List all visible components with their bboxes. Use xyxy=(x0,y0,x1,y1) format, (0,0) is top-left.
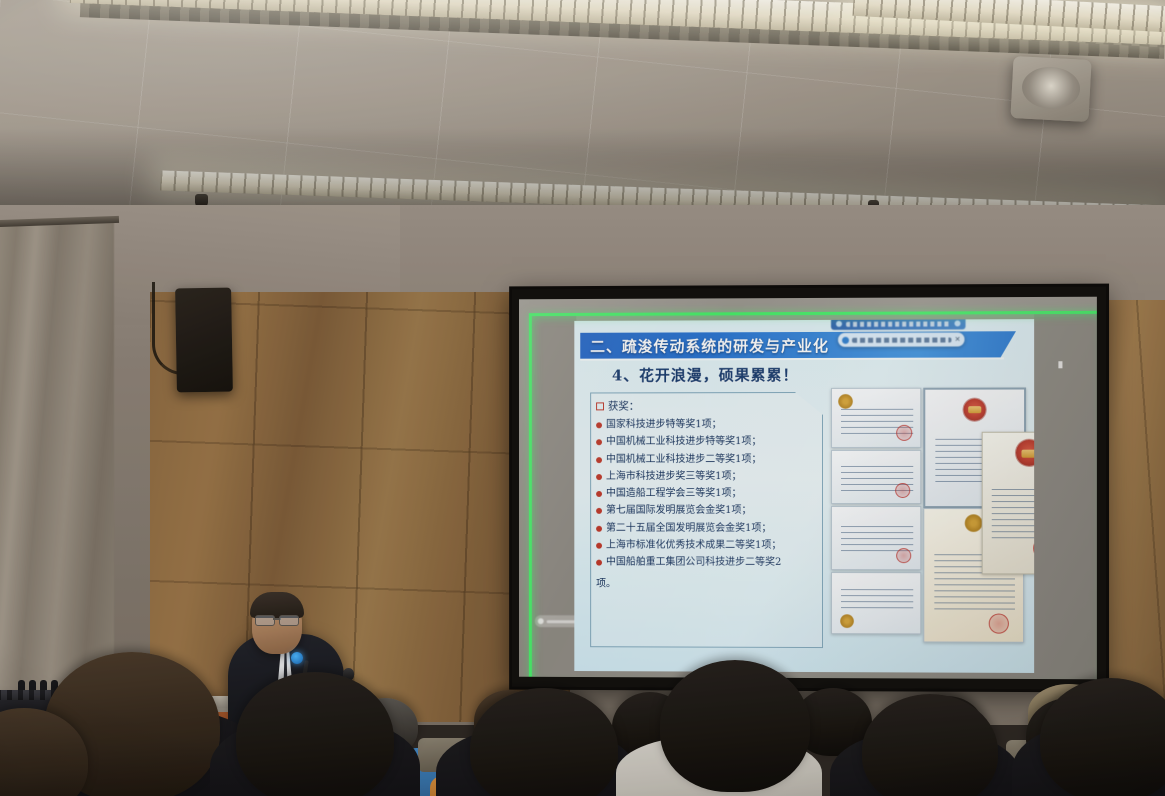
meeting-topbar-label xyxy=(846,321,950,326)
audience-head xyxy=(236,672,394,796)
round-bullet-icon xyxy=(596,491,602,497)
square-bullet-icon xyxy=(596,402,604,410)
certificate-image xyxy=(831,506,921,570)
list-item: 上海市科技进步奖三等奖1项； xyxy=(596,471,823,483)
round-bullet-icon xyxy=(596,508,602,514)
list-item: 第二十五届全国发明展览会金奖1项； xyxy=(596,523,823,535)
close-icon[interactable]: ✕ xyxy=(955,336,961,343)
list-item: 上海市标准化优秀技术成果二等奖1项； xyxy=(596,540,823,552)
round-bullet-icon xyxy=(596,422,602,428)
powerpoint-slide: 二、疏浚传动系统的研发与产业化 4、花开浪漫，硕果累累！ 获奖： 国家科技进步特… xyxy=(574,319,1034,673)
badge-dot-icon xyxy=(538,618,544,624)
slide-title-underline xyxy=(580,357,1004,360)
round-bullet-icon xyxy=(596,526,602,532)
list-item: 国家科技进步特等奖1项； xyxy=(596,419,823,431)
wall-mounted-loudspeaker xyxy=(175,288,233,393)
award-text: 上海市科技进步奖三等奖1项； xyxy=(606,471,742,483)
certificate-image-main xyxy=(982,432,1034,575)
ceiling xyxy=(0,0,1165,232)
meeting-mic-icon xyxy=(954,320,960,326)
projection-screen: 二、疏浚传动系统的研发与产业化 4、花开浪漫，硕果累累！ 获奖： 国家科技进步特… xyxy=(512,287,1106,690)
awards-list: 获奖： 国家科技进步特等奖1项； 中国机械工业科技进步特等奖1项； 中国机械工业… xyxy=(596,398,823,590)
info-icon xyxy=(842,336,849,343)
meeting-top-bar[interactable] xyxy=(831,319,966,330)
award-text: 中国机械工业科技进步二等奖1项； xyxy=(606,454,761,466)
round-bullet-icon xyxy=(596,457,602,463)
list-item: 中国机械工业科技进步二等奖1项； xyxy=(596,454,823,466)
certificate-collage xyxy=(831,387,1028,652)
toast-message-blur xyxy=(852,337,952,342)
lecture-hall-photo: 二、疏浚传动系统的研发与产业化 4、花开浪漫，硕果累累！ 获奖： 国家科技进步特… xyxy=(0,0,1165,796)
meeting-toast-notification[interactable]: ✕ xyxy=(838,332,965,346)
award-text: 国家科技进步特等奖1项； xyxy=(606,419,722,431)
award-text: 中国机械工业科技进步特等奖1项； xyxy=(606,436,761,448)
list-item: 中国机械工业科技进步特等奖1项； xyxy=(596,436,823,448)
audience-head xyxy=(862,694,998,796)
list-item: 中国船舶重工集团公司科技进步二等奖2 xyxy=(596,557,823,569)
eyeglasses-icon xyxy=(255,615,299,624)
round-bullet-icon xyxy=(596,440,602,446)
round-bullet-icon xyxy=(596,474,602,480)
meeting-status-icon xyxy=(836,321,842,327)
cursor-dot-icon xyxy=(1058,361,1062,368)
audience-head xyxy=(660,660,810,792)
award-text: 中国船舶重工集团公司科技进步二等奖2 xyxy=(606,557,781,569)
award-text: 上海市标准化优秀技术成果二等奖1项； xyxy=(606,540,781,552)
share-letterbox-right xyxy=(1034,311,1097,679)
award-text-tail: 项。 xyxy=(596,574,823,589)
award-text: 中国造船工程学会三等奖1项； xyxy=(606,488,742,500)
audience-head xyxy=(470,688,618,796)
certificate-image xyxy=(831,450,921,504)
award-text: 第二十五届全国发明展览会金奖1项； xyxy=(606,523,771,535)
round-bullet-icon xyxy=(596,560,602,566)
certificate-image xyxy=(831,388,921,448)
projection-screen-surface: 二、疏浚传动系统的研发与产业化 4、花开浪漫，硕果累累！ 获奖： 国家科技进步特… xyxy=(519,297,1097,680)
ceiling-shading xyxy=(0,0,1165,232)
awards-heading: 获奖： xyxy=(596,398,823,413)
list-item: 中国造船工程学会三等奖1项； xyxy=(596,488,823,500)
awards-heading-text: 获奖： xyxy=(608,398,639,413)
award-text: 第七届国际发明展览会金奖1项； xyxy=(606,505,751,517)
slide-title-text: 二、疏浚传动系统的研发与产业化 xyxy=(590,334,829,356)
slide-subtitle: 4、花开浪漫，硕果累累！ xyxy=(612,364,799,385)
certificate-image xyxy=(831,572,921,634)
audience xyxy=(0,640,1165,796)
round-bullet-icon xyxy=(596,543,602,549)
list-item: 第七届国际发明展览会金奖1项； xyxy=(596,505,823,517)
